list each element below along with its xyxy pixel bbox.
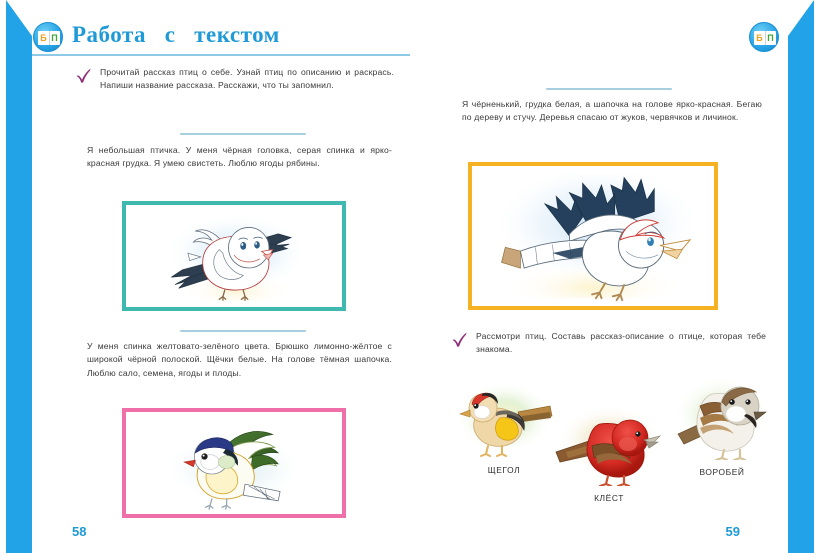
gallery-label-goldfinch: ЩЕГОЛ (452, 465, 556, 475)
open-book-icon-right: Б П (754, 31, 776, 45)
bird-gallery: ЩЕГОЛ (440, 372, 780, 502)
left-page: Б П Работа с текстом Прочитай рассказ пт… (32, 0, 410, 553)
sparrow-illustration (670, 368, 774, 465)
story-text-1: Я небольшая птичка. У меня чёрная головк… (87, 144, 392, 171)
task-text-2: Рассмотри птиц. Составь рассказ-описание… (476, 330, 766, 356)
page-header: Б П Работа с текстом (32, 22, 410, 56)
violet-checkmark-icon-2 (452, 331, 468, 349)
story-title-blank-3[interactable] (546, 88, 672, 90)
colouring-frame-3[interactable] (468, 162, 718, 310)
logo-letter-p: П (49, 31, 60, 45)
decorative-band-left (6, 0, 32, 553)
workbook-spread: Б П Работа с текстом Прочитай рассказ пт… (0, 0, 820, 553)
logo-letter-p-right: П (765, 31, 776, 45)
title-underline (32, 54, 410, 56)
goldfinch-illustration (452, 372, 556, 463)
gallery-item-goldfinch[interactable]: ЩЕГОЛ (452, 372, 556, 475)
right-page: Б П Я чёрненький, грудка белая, а шапочк… (440, 0, 780, 553)
page-header-right: Б П (440, 22, 780, 56)
logo-letter-b: Б (38, 31, 49, 45)
woodpecker-outline-illustration (476, 170, 710, 302)
task-text: Прочитай рассказ птиц о себе. Узнай птиц… (100, 66, 394, 92)
story-title-blank-1[interactable] (180, 133, 306, 135)
task-read-and-colour: Прочитай рассказ птиц о себе. Узнай птиц… (76, 66, 394, 92)
bullfinch-outline-illustration (130, 209, 338, 303)
violet-checkmark-icon (76, 67, 92, 85)
story-title-blank-2[interactable] (180, 330, 306, 332)
page-number-right: 59 (726, 524, 740, 539)
page-number-left: 58 (72, 524, 86, 539)
decorative-band-right (788, 0, 814, 553)
page-title: Работа с текстом (72, 22, 280, 48)
story-text-2: У меня спинка желтовато-зелёного цвета. … (87, 340, 392, 380)
gallery-item-sparrow[interactable]: ВОРОБЕЙ (670, 368, 774, 477)
colouring-frame-1[interactable] (122, 201, 346, 311)
task-describe-bird: Рассмотри птиц. Составь рассказ-описание… (452, 330, 766, 356)
bp-book-logo-icon: Б П (33, 22, 63, 52)
gallery-label-sparrow: ВОРОБЕЙ (670, 467, 774, 477)
logo-letter-b-right: Б (754, 31, 765, 45)
colouring-frame-2[interactable] (122, 408, 346, 518)
great-tit-illustration (130, 416, 338, 510)
gallery-label-crossbill: КЛЁСТ (552, 493, 666, 503)
bp-book-logo-icon-right: Б П (749, 22, 779, 52)
gallery-item-crossbill[interactable]: КЛЁСТ (552, 398, 666, 503)
open-book-icon: Б П (38, 31, 60, 45)
story-text-3: Я чёрненький, грудка белая, а шапочка на… (462, 98, 762, 125)
crossbill-illustration (552, 398, 666, 491)
